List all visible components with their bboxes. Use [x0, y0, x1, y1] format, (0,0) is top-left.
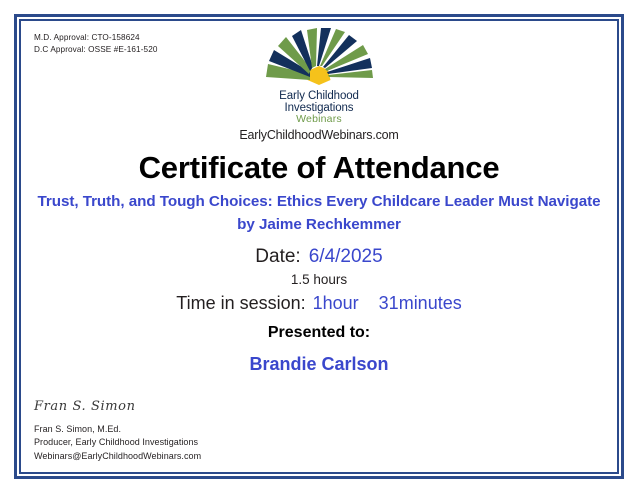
signatory-name: Fran S. Simon, M.Ed.: [34, 423, 201, 437]
session-hours-value: 1hour: [313, 293, 359, 313]
organization-url: EarlyChildhoodWebinars.com: [239, 128, 398, 142]
certificate: M.D. Approval: CTO-158624 D.C Approval: …: [0, 0, 638, 493]
sunburst-icon: [260, 28, 378, 90]
signatory-title: Producer, Early Childhood Investigations: [34, 436, 201, 450]
signatory-email: Webinars@EarlyChildhoodWebinars.com: [34, 450, 201, 464]
signature-block: Fran S. Simon Fran S. Simon, M.Ed. Produ…: [34, 399, 201, 464]
date-label: Date:: [255, 246, 300, 267]
page-title: Certificate of Attendance: [22, 150, 616, 186]
session-row: Time in session:1hour31minutes: [22, 293, 616, 314]
session-label: Time in session:: [176, 293, 305, 313]
logo-wordmark-line-1: Early Childhood: [279, 91, 359, 103]
logo-wordmark-line-3: Webinars: [279, 114, 359, 126]
session-minutes-value: 31minutes: [379, 293, 462, 313]
certificate-content: M.D. Approval: CTO-158624 D.C Approval: …: [22, 22, 616, 471]
webinar-title: Trust, Truth, and Tough Choices: Ethics …: [36, 190, 602, 236]
duration-value: 1.5 hours: [22, 272, 616, 287]
date-value: 6/4/2025: [309, 246, 383, 267]
organization-logo: Early Childhood Investigations Webinars …: [22, 28, 616, 142]
presented-to-label: Presented to:: [22, 324, 616, 342]
date-row: Date:6/4/2025: [22, 246, 616, 268]
logo-wordmark: Early Childhood Investigations Webinars: [279, 91, 359, 126]
recipient-name: Brandie Carlson: [22, 354, 616, 375]
signature-image: Fran S. Simon: [34, 399, 201, 414]
